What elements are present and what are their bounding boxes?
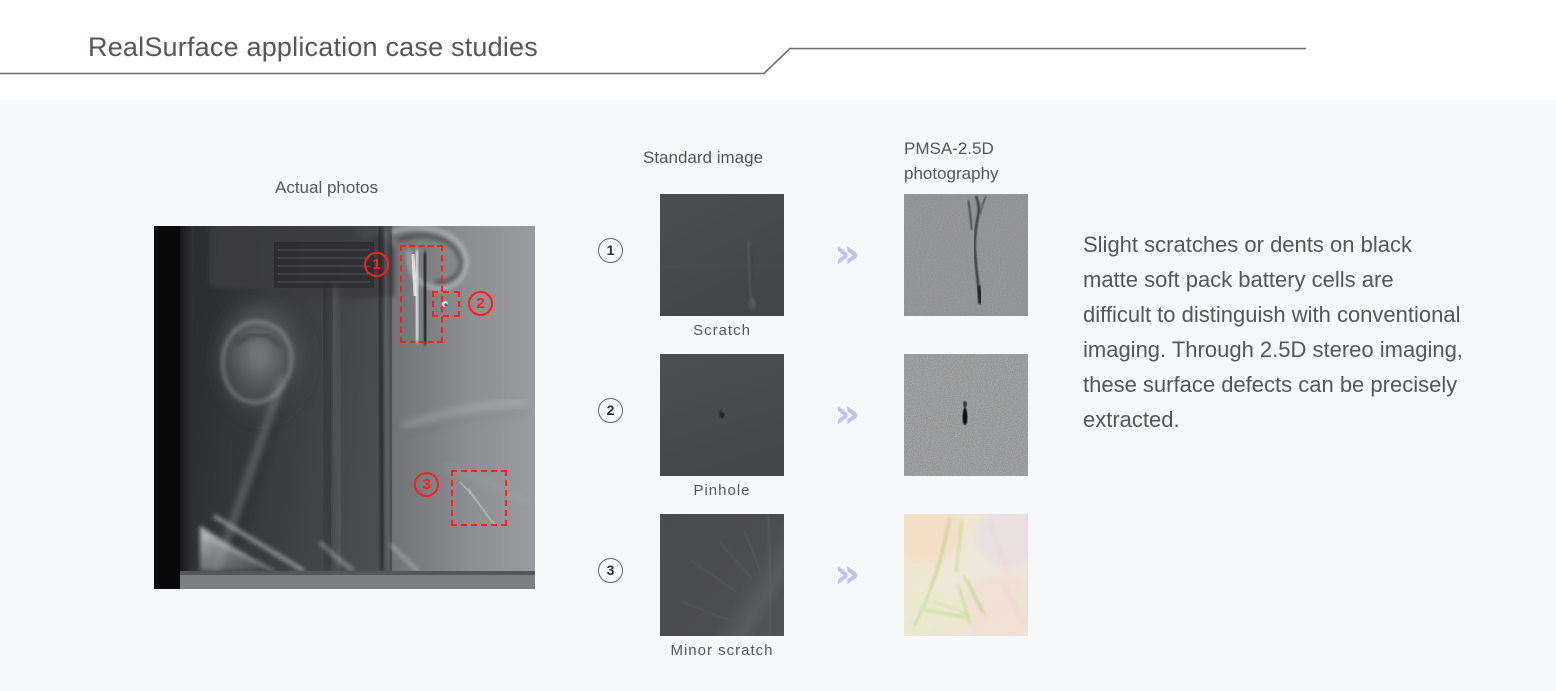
defect-row: 1	[598, 194, 1058, 354]
standard-thumbnail-scratch	[660, 194, 784, 316]
defect-row: 3	[598, 514, 1058, 674]
pmsa-header-line-1: PMSA-2.5D	[904, 139, 994, 158]
pmsa-column-header: PMSA-2.5D photography	[904, 136, 1049, 186]
page-title: RealSurface application case studies	[88, 32, 538, 63]
annotation-marker-1: 1	[364, 252, 389, 277]
actual-photo-figure: 1 2 3	[154, 226, 535, 589]
annotation-marker-3: 3	[414, 472, 439, 497]
thumbnail-caption-minor-scratch: Minor scratch	[622, 642, 822, 659]
flow-arrow-icon: »	[823, 392, 871, 440]
standard-thumbnail-pinhole	[660, 354, 784, 476]
thumbnail-caption-pinhole: Pinhole	[622, 482, 822, 499]
row-index-2: 2	[598, 398, 623, 423]
actual-photo-image	[154, 226, 535, 589]
pmsa-thumbnail-minor-scratch	[904, 514, 1028, 636]
annotation-box-pinhole	[432, 291, 460, 317]
flow-arrow-icon: »	[823, 552, 871, 600]
content-panel: Actual photos	[0, 100, 1556, 691]
standard-image-column-header: Standard image	[643, 148, 803, 168]
pmsa-thumbnail-scratch	[904, 194, 1028, 316]
description-paragraph: Slight scratches or dents on black matte…	[1083, 227, 1463, 437]
slide-header: RealSurface application case studies	[0, 0, 1556, 100]
thumbnail-caption-scratch: Scratch	[622, 322, 822, 339]
defect-row: 2 Pinhole »	[598, 354, 1058, 514]
annotation-marker-2: 2	[468, 291, 493, 316]
pmsa-header-line-2: photography	[904, 164, 999, 183]
annotation-box-minor-scratch	[451, 470, 507, 526]
actual-photos-label: Actual photos	[275, 178, 378, 198]
pmsa-thumbnail-pinhole	[904, 354, 1028, 476]
standard-thumbnail-minor-scratch	[660, 514, 784, 636]
row-index-1: 1	[598, 238, 623, 263]
row-index-3: 3	[598, 558, 623, 583]
slide-root: RealSurface application case studies Act…	[0, 0, 1556, 691]
flow-arrow-icon: »	[823, 232, 871, 280]
